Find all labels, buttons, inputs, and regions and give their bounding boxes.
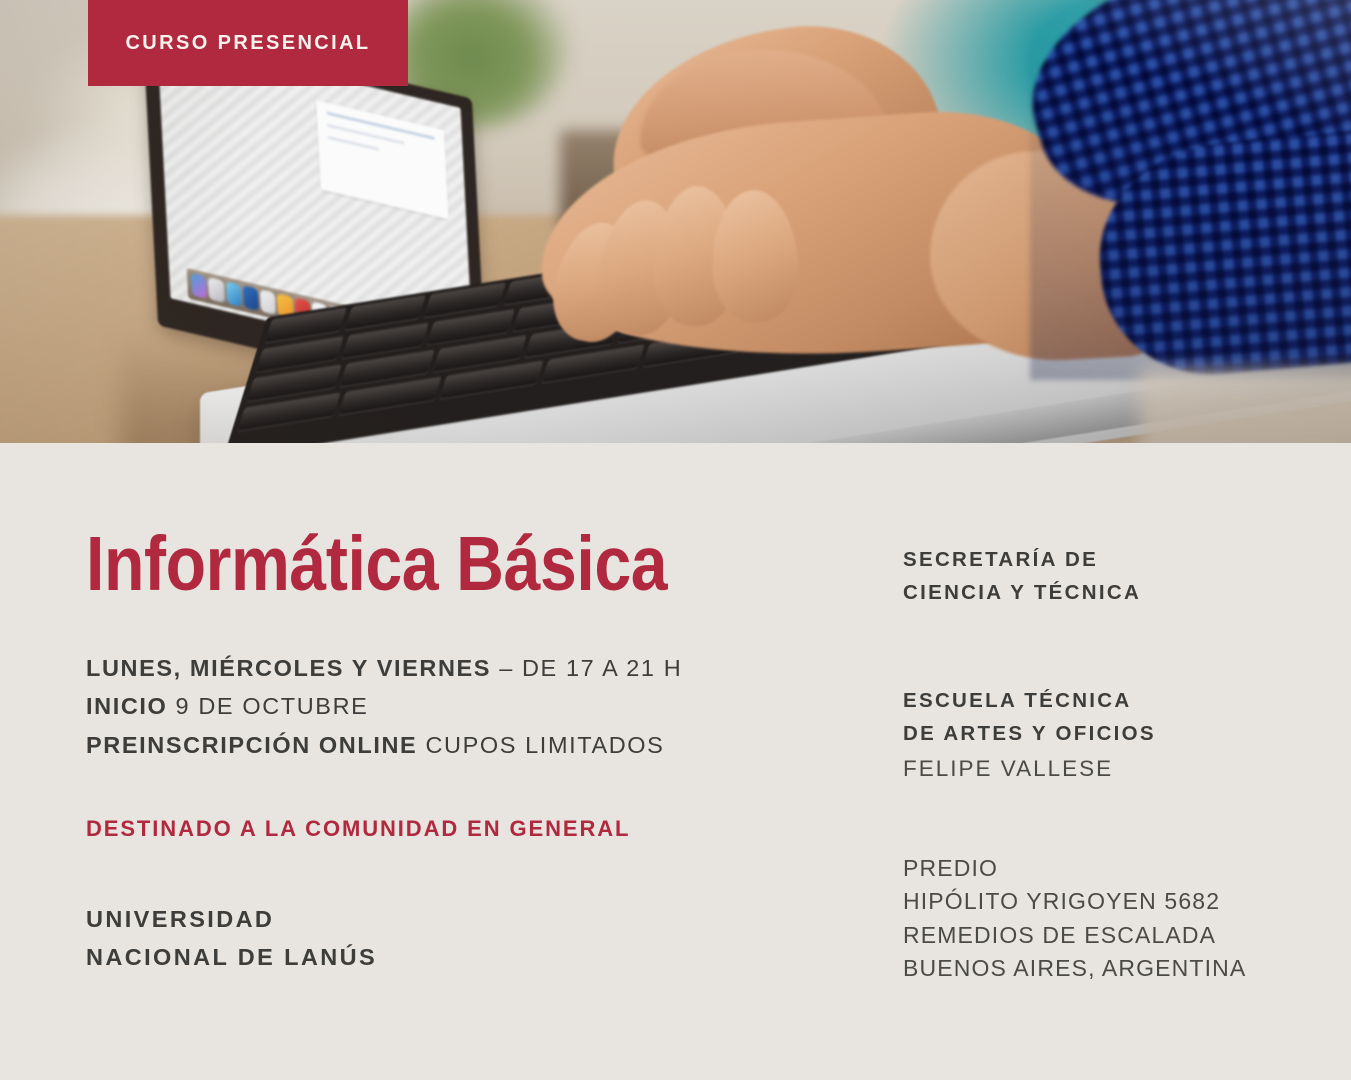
course-type-banner: CURSO PRESENCIAL <box>88 0 408 86</box>
photo-foreground-blur <box>1140 370 1351 443</box>
school-line-2: DE ARTES Y OFICIOS <box>903 717 1323 750</box>
schedule-start-value: 9 DE OCTUBRE <box>167 693 368 719</box>
schedule-line-start: INICIO 9 DE OCTUBRE <box>86 687 846 725</box>
spacer-school-address <box>903 786 1323 852</box>
enrollment-value: CUPOS LIMITADOS <box>417 732 664 758</box>
address-line-3: REMEDIOS DE ESCALADA <box>903 919 1323 953</box>
secretariat-line-1: SECRETARÍA DE <box>903 543 1323 576</box>
university-block: UNIVERSIDAD NACIONAL DE LANÚS <box>86 900 846 976</box>
right-info-column: SECRETARÍA DE CIENCIA Y TÉCNICA ESCUELA … <box>903 543 1323 986</box>
left-info-column: Informática Básica LUNES, MIÉRCOLES Y VI… <box>86 528 846 976</box>
schedule-days-label: LUNES, MIÉRCOLES Y VIERNES <box>86 655 491 681</box>
secretariat-line-2: CIENCIA Y TÉCNICA <box>903 576 1323 609</box>
course-title: Informática Básica <box>86 528 740 601</box>
laptop-display-window <box>316 100 448 219</box>
spacer-secretariat-school <box>903 610 1323 684</box>
university-line-1: UNIVERSIDAD <box>86 900 846 938</box>
school-block: ESCUELA TÉCNICA DE ARTES Y OFICIOS FELIP… <box>903 684 1323 786</box>
address-line-4: BUENOS AIRES, ARGENTINA <box>903 952 1323 986</box>
info-panel: Informática Básica LUNES, MIÉRCOLES Y VI… <box>0 443 1351 1080</box>
schedule-days-value: – DE 17 A 21 H <box>491 655 682 681</box>
address-line-1: PREDIO <box>903 852 1323 886</box>
schedule-line-enrollment: PREINSCRIPCIÓN ONLINE CUPOS LIMITADOS <box>86 726 846 764</box>
address-line-2: HIPÓLITO YRIGOYEN 5682 <box>903 885 1323 919</box>
school-line-1: ESCUELA TÉCNICA <box>903 684 1323 717</box>
course-type-label: CURSO PRESENCIAL <box>125 32 370 55</box>
schedule-start-label: INICIO <box>86 693 167 719</box>
audience-highlight: DESTINADO A LA COMUNIDAD EN GENERAL <box>86 816 846 842</box>
enrollment-label: PREINSCRIPCIÓN ONLINE <box>86 732 417 758</box>
university-line-2: NACIONAL DE LANÚS <box>86 938 846 976</box>
school-name: FELIPE VALLESE <box>903 751 1323 786</box>
address-block: PREDIO HIPÓLITO YRIGOYEN 5682 REMEDIOS D… <box>903 852 1323 986</box>
secretariat-block: SECRETARÍA DE CIENCIA Y TÉCNICA <box>903 543 1323 610</box>
course-poster: CURSO PRESENCIAL Informática Básica LUNE… <box>0 0 1351 1080</box>
schedule-line-days: LUNES, MIÉRCOLES Y VIERNES – DE 17 A 21 … <box>86 649 846 687</box>
